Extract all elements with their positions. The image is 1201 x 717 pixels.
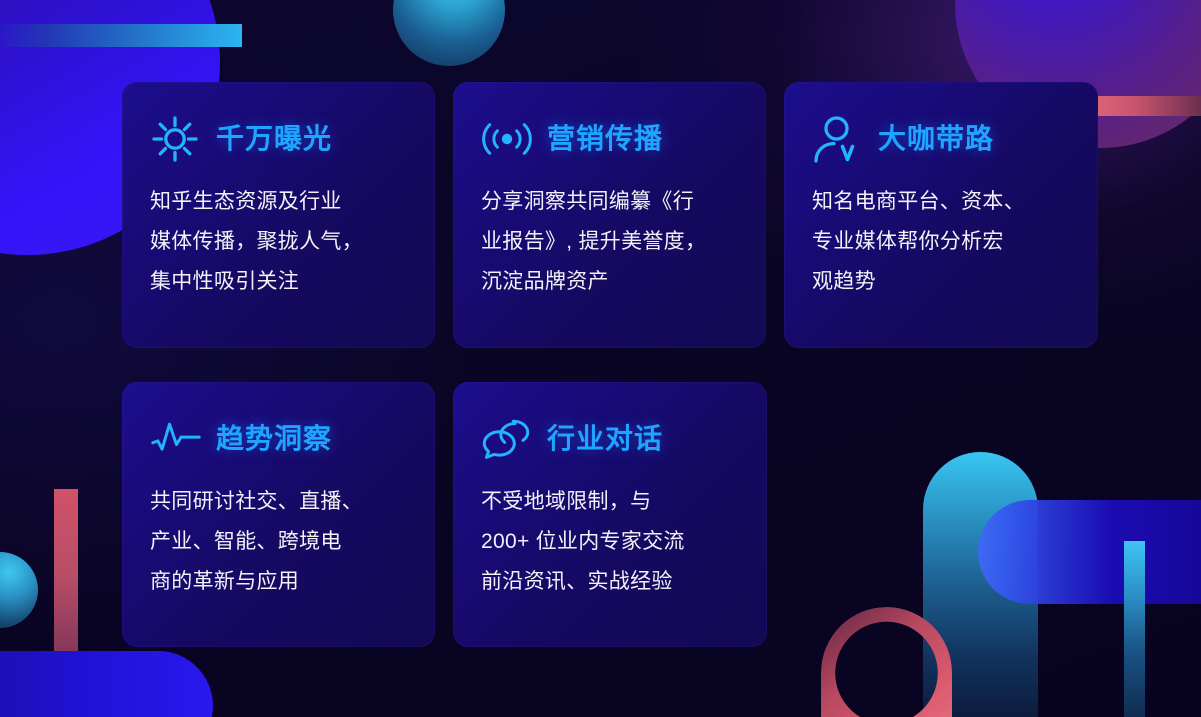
card-body-line: 分享洞察共同编纂《行 — [481, 182, 750, 222]
card-body: 共同研讨社交、直播、 产业、智能、跨境电 商的革新与应用 — [122, 460, 435, 602]
promo-banner: 千万曝光 知乎生态资源及行业 媒体传播，聚拢人气， 集中性吸引关注 — [0, 0, 1201, 717]
sphere-left-edge-decoration — [0, 552, 38, 628]
card-body-line: 产业、智能、跨境电 — [150, 522, 409, 562]
card-body-line: 知乎生态资源及行业 — [150, 182, 409, 222]
trend-pulse-icon — [150, 416, 202, 462]
card-body-line: 沉淀品牌资产 — [481, 262, 750, 302]
card-body-line: 业报告》, 提升美誉度， — [481, 222, 750, 262]
card-body: 知乎生态资源及行业 媒体传播，聚拢人气， 集中性吸引关注 — [122, 160, 435, 302]
feature-card-trends[interactable]: 趋势洞察 共同研讨社交、直播、 产业、智能、跨境电 商的革新与应用 — [122, 382, 435, 647]
feature-card-experts[interactable]: 大咖带路 知名电商平台、资本、 专业媒体帮你分析宏 观趋势 — [784, 82, 1098, 348]
feature-card-dialogue[interactable]: 行业对话 不受地域限制，与 200+ 位业内专家交流 前沿资讯、实战经验 — [453, 382, 767, 647]
card-header: 趋势洞察 — [122, 382, 435, 460]
feature-card-marketing[interactable]: 营销传播 分享洞察共同编纂《行 业报告》, 提升美誉度， 沉淀品牌资产 — [453, 82, 766, 348]
feature-card-exposure[interactable]: 千万曝光 知乎生态资源及行业 媒体传播，聚拢人气， 集中性吸引关注 — [122, 82, 435, 348]
chat-bubbles-icon — [481, 416, 533, 462]
card-body-line: 共同研讨社交、直播、 — [150, 482, 409, 522]
verified-person-icon — [812, 116, 864, 162]
card-body-line: 媒体传播，聚拢人气， — [150, 222, 409, 262]
card-body-line: 不受地域限制，与 — [481, 482, 741, 522]
block-blue-bottom-left-decoration — [0, 651, 213, 717]
card-title: 大咖带路 — [878, 125, 994, 153]
broadcast-signal-icon — [481, 116, 533, 162]
card-header: 营销传播 — [453, 82, 766, 160]
card-title: 千万曝光 — [216, 125, 332, 153]
card-body-line: 200+ 位业内专家交流 — [481, 522, 741, 562]
card-header: 行业对话 — [453, 382, 767, 460]
card-title: 趋势洞察 — [216, 425, 332, 453]
card-title: 营销传播 — [547, 125, 663, 153]
bar-red-top-right-decoration — [1088, 96, 1201, 116]
card-header: 千万曝光 — [122, 82, 435, 160]
card-body-line: 知名电商平台、资本、 — [812, 182, 1082, 222]
feature-card-grid: 千万曝光 知乎生态资源及行业 媒体传播，聚拢人气， 集中性吸引关注 — [122, 82, 1098, 647]
bar-cyan-top-left-decoration — [0, 24, 242, 47]
card-body: 知名电商平台、资本、 专业媒体帮你分析宏 观趋势 — [784, 160, 1098, 302]
card-body-line: 前沿资讯、实战经验 — [481, 562, 741, 602]
card-header: 大咖带路 — [784, 82, 1098, 160]
card-body-line: 观趋势 — [812, 262, 1082, 302]
sphere-top-center-decoration — [393, 0, 505, 66]
card-body: 不受地域限制，与 200+ 位业内专家交流 前沿资讯、实战经验 — [453, 460, 767, 602]
card-body-line: 专业媒体帮你分析宏 — [812, 222, 1082, 262]
card-body: 分享洞察共同编纂《行 业报告》, 提升美誉度， 沉淀品牌资产 — [453, 160, 766, 302]
bar-cyan-bottom-right-decoration — [1124, 541, 1145, 717]
card-body-line: 集中性吸引关注 — [150, 262, 409, 302]
card-title: 行业对话 — [547, 425, 663, 453]
sun-icon — [150, 116, 202, 162]
card-body-line: 商的革新与应用 — [150, 562, 409, 602]
bar-red-bottom-left-decoration — [54, 489, 78, 717]
